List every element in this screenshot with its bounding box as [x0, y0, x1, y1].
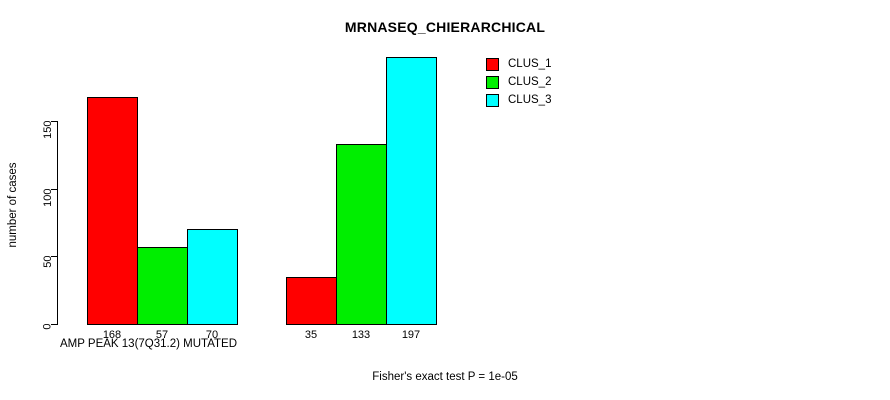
- y-axis-tick-label-text: 50: [43, 256, 54, 268]
- bar[interactable]: [87, 97, 138, 325]
- chart-canvas: MRNASEQ_CHIERARCHICAL number of cases 05…: [0, 0, 890, 400]
- legend-item[interactable]: CLUS_3: [486, 91, 596, 109]
- y-axis-tick-label: 100: [14, 183, 48, 195]
- legend-item[interactable]: CLUS_2: [486, 73, 596, 91]
- chart-title: MRNASEQ_CHIERARCHICAL: [0, 19, 890, 35]
- bar[interactable]: [386, 57, 437, 325]
- bar-value-label: 35: [286, 329, 336, 341]
- legend-item-label: CLUS_3: [508, 94, 551, 106]
- legend-color-swatch: [486, 94, 499, 107]
- y-axis-tick-label-text: 150: [43, 121, 54, 139]
- legend-item[interactable]: CLUS_1: [486, 55, 596, 73]
- y-axis-tick-label: 150: [14, 115, 48, 127]
- bar[interactable]: [336, 144, 387, 325]
- group-label-1: AMP PEAK 13(7Q31.2) MUTATED: [60, 338, 237, 350]
- bar-value-label: 197: [386, 329, 436, 341]
- y-axis-tick-label: 0: [14, 318, 48, 330]
- bar[interactable]: [137, 247, 188, 325]
- bar-value-label: 133: [336, 329, 386, 341]
- y-axis-line: [57, 122, 58, 325]
- y-axis-tick-label: 50: [14, 250, 48, 262]
- y-axis-tick-label-text: 100: [43, 188, 54, 206]
- y-axis-title: number of cases: [7, 145, 19, 265]
- statistic-annotation: Fisher's exact test P = 1e-05: [0, 371, 890, 383]
- legend-color-swatch: [486, 58, 499, 71]
- legend-item-label: CLUS_1: [508, 58, 551, 70]
- bar[interactable]: [187, 229, 238, 325]
- legend-item-label: CLUS_2: [508, 76, 551, 88]
- y-axis-tick-label-text: 0: [43, 324, 54, 330]
- bar[interactable]: [286, 277, 337, 325]
- legend: CLUS_1CLUS_2CLUS_3: [486, 55, 596, 109]
- legend-color-swatch: [486, 76, 499, 89]
